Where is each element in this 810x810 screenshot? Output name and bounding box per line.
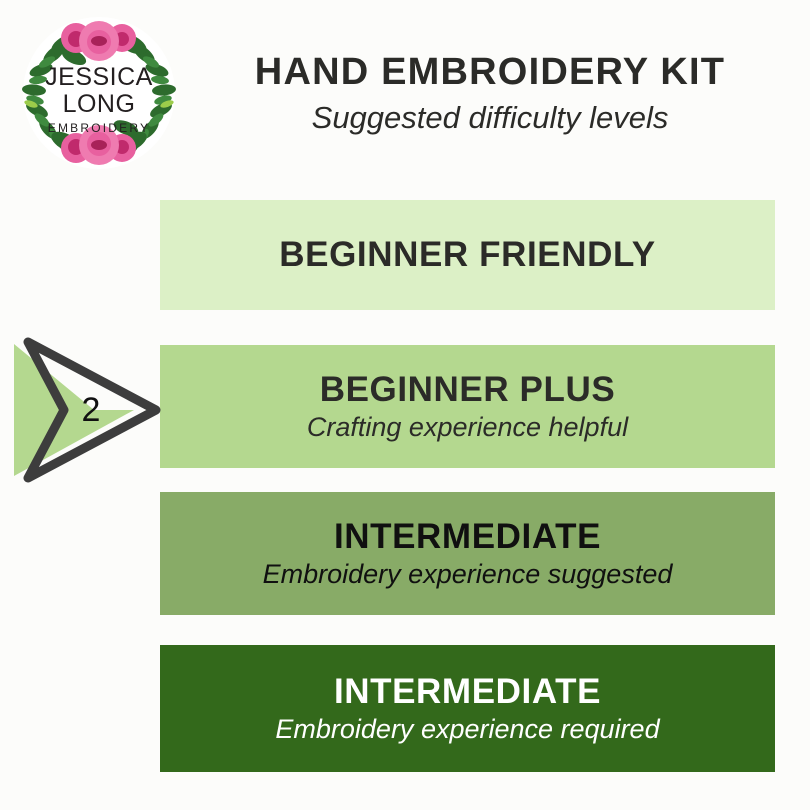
- header-titles: HAND EMBROIDERY KIT Suggested difficulty…: [190, 52, 790, 135]
- logo-line-1: JESSICA: [45, 63, 153, 91]
- page-subtitle: Suggested difficulty levels: [190, 101, 790, 135]
- level-title: BEGINNER FRIENDLY: [279, 235, 655, 274]
- brand-logo: JESSICA LONG EMBROIDERY: [14, 8, 184, 178]
- level-title: INTERMEDIATE: [334, 672, 601, 711]
- logo-line-2: LONG: [63, 90, 136, 118]
- selected-level-marker: 2: [6, 330, 166, 490]
- level-subtitle: Embroidery experience suggested: [263, 559, 673, 590]
- level-subtitle: Crafting experience helpful: [307, 412, 628, 443]
- level-bar-intermediate-required: INTERMEDIATE Embroidery experience requi…: [160, 645, 775, 772]
- level-bar-intermediate-suggested: INTERMEDIATE Embroidery experience sugge…: [160, 492, 775, 615]
- level-subtitle: Embroidery experience required: [275, 714, 659, 745]
- level-title: INTERMEDIATE: [334, 517, 601, 556]
- page-title: HAND EMBROIDERY KIT: [190, 52, 790, 93]
- level-bar-beginner-friendly: BEGINNER FRIENDLY: [160, 200, 775, 310]
- level-title: BEGINNER PLUS: [320, 370, 616, 409]
- header: JESSICA LONG EMBROIDERY HAND EMBROIDERY …: [0, 0, 810, 195]
- level-bar-beginner-plus: BEGINNER PLUS Crafting experience helpfu…: [160, 345, 775, 468]
- logo-line-3: EMBROIDERY: [48, 121, 150, 135]
